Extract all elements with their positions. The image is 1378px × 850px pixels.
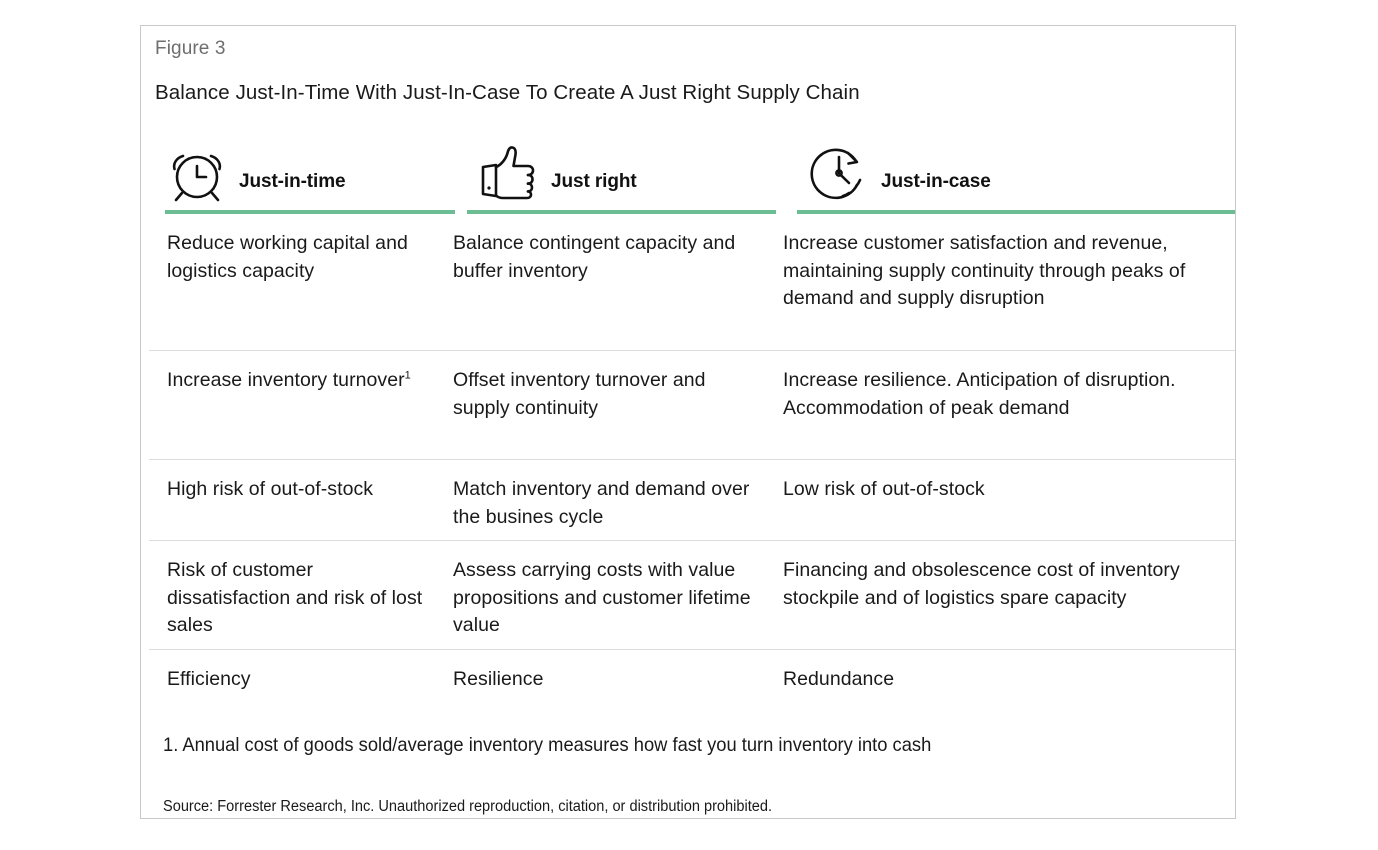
footnote-marker: 1 xyxy=(405,370,411,382)
column-header-label-just-in-time: Just-in-time xyxy=(239,171,345,193)
thumbs-up-icon xyxy=(477,141,541,205)
column-header-label-just-right: Just right xyxy=(551,171,637,193)
table-cell-just-in-case: Increase resilience. Anticipation of dis… xyxy=(783,351,1235,436)
table-row: Efficiency Resilience Redundance xyxy=(141,650,1235,708)
table-cell-just-in-time: Reduce working capital and logistics cap… xyxy=(141,214,453,327)
table-cell-just-in-case: Increase customer satisfaction and reven… xyxy=(783,214,1235,327)
table-row: Increase inventory turnover1 Offset inve… xyxy=(141,351,1235,460)
comparison-table: Reduce working capital and logistics cap… xyxy=(141,214,1235,708)
table-cell-just-right: Assess carrying costs with value proposi… xyxy=(453,541,783,654)
table-cell-just-in-case: Financing and obsolescence cost of inven… xyxy=(783,541,1235,654)
table-cell-just-in-case: Low risk of out-of-stock xyxy=(783,460,1235,545)
column-header-just-right: Just right xyxy=(467,123,797,213)
figure-title: Balance Just-In-Time With Just-In-Case T… xyxy=(155,81,860,105)
table-cell-just-in-time: Risk of customer dissatisfaction and ris… xyxy=(141,541,453,654)
table-cell-just-right: Balance contingent capacity and buffer i… xyxy=(453,214,783,327)
table-row: Risk of customer dissatisfaction and ris… xyxy=(141,541,1235,650)
table-cell-just-right: Match inventory and demand over the busi… xyxy=(453,460,783,545)
table-cell-just-right: Offset inventory turnover and supply con… xyxy=(453,351,783,436)
table-cell-text: Increase inventory turnover xyxy=(167,369,405,391)
footnote-text: 1. Annual cost of goods sold/average inv… xyxy=(163,734,931,757)
alarm-clock-icon xyxy=(165,141,229,205)
figure-card: Figure 3 Balance Just-In-Time With Just-… xyxy=(140,25,1236,819)
table-row: High risk of out-of-stock Match inventor… xyxy=(141,460,1235,541)
figure-label: Figure 3 xyxy=(155,38,226,60)
table-cell-just-in-time: High risk of out-of-stock xyxy=(141,460,453,545)
clock-arrow-icon xyxy=(807,141,871,205)
column-header-just-in-case: Just-in-case xyxy=(797,123,1235,213)
table-cell-just-in-time: Increase inventory turnover1 xyxy=(141,351,453,436)
column-header-row: Just-in-time Just right xyxy=(141,123,1235,213)
table-cell-just-right: Resilience xyxy=(453,650,783,708)
source-text: Source: Forrester Research, Inc. Unautho… xyxy=(163,798,772,816)
column-header-just-in-time: Just-in-time xyxy=(155,123,467,213)
table-cell-just-in-case: Redundance xyxy=(783,650,1235,708)
column-header-label-just-in-case: Just-in-case xyxy=(881,171,991,193)
table-row: Reduce working capital and logistics cap… xyxy=(141,214,1235,351)
table-cell-just-in-time: Efficiency xyxy=(141,650,453,708)
